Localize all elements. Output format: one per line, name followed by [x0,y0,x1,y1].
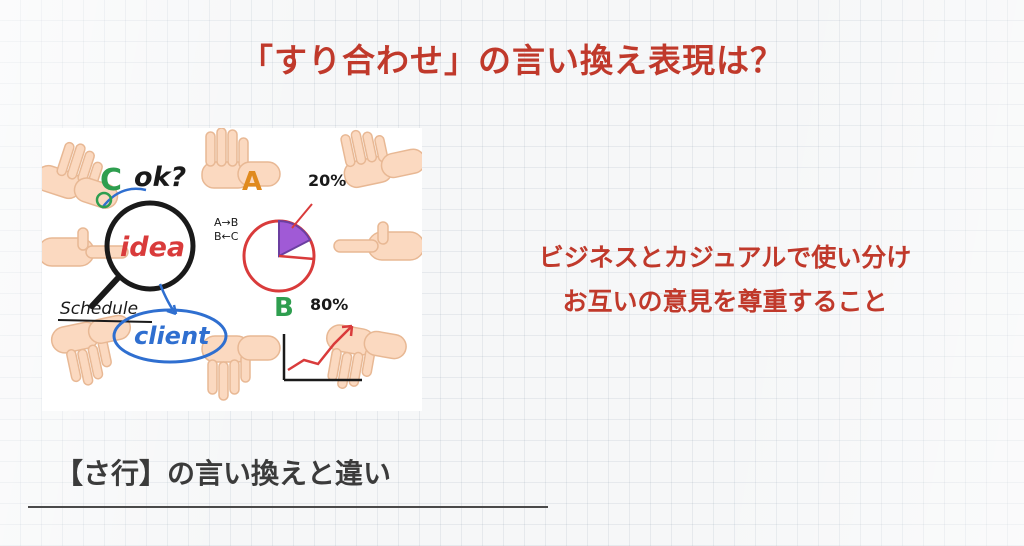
slide-canvas: 「すり合わせ」の言い換え表現は？ [0,0,1024,546]
footer-divider [28,506,548,508]
footer-title: 【さ行】の言い換えと違い [55,452,391,492]
svg-text:80%: 80% [310,295,348,314]
svg-text:20%: 20% [308,171,346,190]
page-title: 「すり合わせ」の言い換え表現は？ [0,34,1024,82]
illustration-hands-ideas: C ok? idea A A→B B←C 20% B 80% [42,128,422,411]
svg-text:idea: idea [120,232,185,263]
svg-text:B: B [274,293,294,323]
svg-text:ok?: ok? [134,162,186,193]
svg-text:Schedule: Schedule [60,299,138,319]
svg-text:A: A [242,167,262,197]
svg-text:B←C: B←C [214,230,239,243]
caption-text: ビジネスとカジュアルで使い分け お互いの意見を尊重すること [440,236,1010,324]
caption-line-1: ビジネスとカジュアルで使い分け [440,236,1010,280]
svg-text:A→B: A→B [214,216,238,229]
svg-text:client: client [134,322,211,350]
caption-line-2: お互いの意見を尊重すること [440,280,1010,324]
